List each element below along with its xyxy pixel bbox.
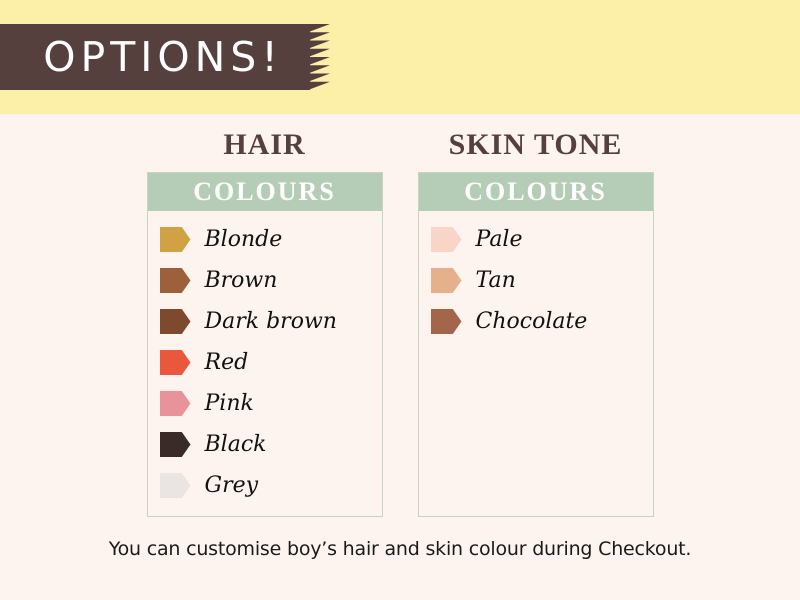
options-ribbon: OPTIONS! [0,24,330,90]
panel-filler [431,383,653,424]
list-item[interactable]: Pale [431,219,653,260]
hair-panel-header: COLOURS [148,173,382,211]
skin-tone-colours-panel: COLOURS Pale Tan Chocolate [418,172,654,517]
skin-tone-panel-header: COLOURS [419,173,653,211]
list-item[interactable]: Blonde [160,219,382,260]
list-item[interactable]: Black [160,424,382,465]
skin-tone-options-list: Pale Tan Chocolate [419,211,653,516]
hair-column-title: HAIR [147,130,383,160]
colour-swatch-icon [431,268,462,293]
colour-options-columns: HAIR COLOURS Blonde Brown Dark brown [0,130,800,517]
list-item-label: Pale [476,229,523,251]
list-item[interactable]: Chocolate [431,301,653,342]
list-item[interactable]: Tan [431,260,653,301]
panel-filler [431,342,653,383]
panel-filler [431,465,653,506]
colour-swatch-icon [160,391,191,416]
colour-swatch-icon [160,350,191,375]
ribbon-zigzag-icon [308,24,330,90]
list-item-label: Dark brown [205,311,337,333]
hair-column: HAIR COLOURS Blonde Brown Dark brown [147,130,383,517]
colour-swatch-icon [160,432,191,457]
hair-colours-panel: COLOURS Blonde Brown Dark brown Red [147,172,383,517]
list-item[interactable]: Dark brown [160,301,382,342]
page-title: OPTIONS! [0,24,310,90]
colour-swatch-icon [431,309,462,334]
colour-swatch-icon [431,227,462,252]
list-item-label: Grey [205,475,259,497]
list-item[interactable]: Grey [160,465,382,506]
list-item[interactable]: Brown [160,260,382,301]
list-item-label: Tan [476,270,516,292]
list-item[interactable]: Red [160,342,382,383]
list-item-label: Black [205,434,267,456]
colour-swatch-icon [160,227,191,252]
skin-tone-column-title: SKIN TONE [418,130,654,160]
list-item-label: Pink [205,393,254,415]
list-item-label: Red [205,352,249,374]
list-item-label: Blonde [205,229,283,251]
skin-tone-column: SKIN TONE COLOURS Pale Tan Chocolate [418,130,654,517]
panel-filler [431,424,653,465]
colour-swatch-icon [160,473,191,498]
hair-options-list: Blonde Brown Dark brown Red Pink [148,211,382,516]
checkout-note: You can customise boy’s hair and skin co… [0,538,800,560]
colour-swatch-icon [160,309,191,334]
list-item-label: Brown [205,270,278,292]
colour-swatch-icon [160,268,191,293]
list-item[interactable]: Pink [160,383,382,424]
list-item-label: Chocolate [476,311,588,333]
